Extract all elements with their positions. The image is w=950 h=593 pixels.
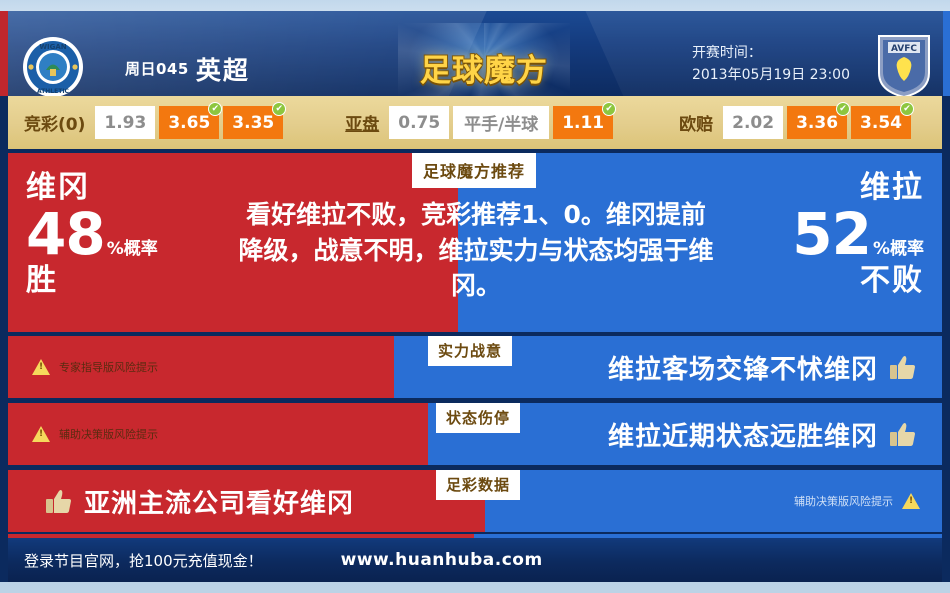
row-headline-text: 维拉客场交锋不怵维冈 [608,349,878,386]
odds-cell-handicap[interactable]: 平手/半球 [453,106,549,139]
warning-triangle-icon [32,426,50,442]
home-team-name: 维冈 [26,173,158,203]
risk-warning: 专家指导版风险提示 [32,336,158,398]
footer-bar: 登录节目官网，抢100元充值现金！ www.huanhuba.com [8,538,942,582]
away-probability-row: 52%概率 [792,205,924,263]
thumbs-up-icon [888,354,918,380]
brand-logo-text: 足球魔方 [420,45,548,90]
kickoff-label: 开赛时间： [692,43,850,65]
odds-value: 3.65 [168,113,210,133]
row-headline: 维拉客场交锋不怵维冈 [608,336,918,398]
row-tab-label: 足彩数据 [436,470,520,500]
odds-value: 3.54 [860,113,902,133]
thumbs-up-icon [44,488,74,514]
away-probability-value: 52 [792,200,871,268]
home-outcome-label: 胜 [26,266,158,296]
brand-logo: 足球魔方 [398,37,570,96]
row-headline: 亚洲主流公司看好维冈 [44,470,354,532]
odds-group-european: 欧赔 2.02 3.36✔ 3.54✔ [679,106,915,139]
match-title: 周日045英超 [125,51,250,87]
check-icon: ✔ [208,102,222,116]
reason-row: 状态伤停 辅助决策版风险提示 维拉近期状态远胜维冈 [8,403,942,465]
thumbs-up-icon [888,421,918,447]
prediction-panel: 足球魔方推荐 维冈 48%概率 胜 维拉 52%概率 不败 看好维拉不败，竞彩推… [8,153,942,332]
away-team-name: 维拉 [792,173,924,203]
odds-cell[interactable]: 1.93 [95,106,155,139]
odds-cell[interactable]: 3.54✔ [851,106,911,139]
kickoff-time: 开赛时间： 2013年05月19日 23:00 [692,43,850,86]
away-outcome-label: 不败 [792,266,924,296]
odds-cell[interactable]: 0.75 [389,106,449,139]
home-probability-row: 48%概率 [26,205,158,263]
risk-warning-text: 辅助决策版风险提示 [59,426,158,442]
odds-group-label: 欧赔 [679,110,713,135]
warning-triangle-icon [902,493,920,509]
odds-cell[interactable]: 2.02 [723,106,783,139]
home-probability-value: 48 [26,200,105,268]
odds-group-jingcai: 竞彩(0) 1.93 3.65✔ 3.35✔ [24,106,287,139]
footer-promo-text: 登录节目官网，抢100元充值现金！ [24,550,263,571]
home-probability-block: 维冈 48%概率 胜 [26,173,158,296]
odds-value: 0.75 [398,113,440,133]
row-headline-text: 亚洲主流公司看好维冈 [84,483,354,520]
risk-warning-text: 辅助决策版风险提示 [794,493,893,509]
svg-text:ATHLETIC: ATHLETIC [37,88,70,95]
footer-red-accent [8,534,474,538]
check-icon: ✔ [602,102,616,116]
odds-group-label: 竞彩(0) [24,110,85,135]
match-header: WIGAN ATHLETIC AVFC 周日045英超 足球魔方 开赛时间： 2… [0,11,950,96]
risk-warning: 辅助决策版风险提示 [32,403,158,465]
away-team-crest-icon: AVFC [876,33,932,96]
row-headline-text: 维拉近期状态远胜维冈 [608,416,878,453]
away-probability-block: 维拉 52%概率 不败 [792,173,924,296]
prediction-tab-label: 足球魔方推荐 [412,153,536,188]
footer-website-link[interactable]: www.huanhuba.com [341,550,543,570]
footer-blue-accent [474,534,942,538]
odds-cell[interactable]: 3.65✔ [159,106,219,139]
risk-warning-text: 专家指导版风险提示 [59,359,158,375]
reason-row: 足彩数据 亚洲主流公司看好维冈 辅助决策版风险提示 [8,470,942,532]
match-league: 英超 [196,56,250,85]
odds-cell[interactable]: 3.35✔ [223,106,283,139]
row-tab-label: 状态伤停 [436,403,520,433]
header-left-accent [0,11,8,96]
kickoff-value: 2013年05月19日 23:00 [692,65,850,87]
home-probability-unit: %概率 [107,239,158,259]
svg-text:AVFC: AVFC [891,44,917,54]
away-probability-unit: %概率 [873,239,924,259]
odds-group-label: 亚盘 [345,110,379,135]
odds-value: 3.35 [232,113,274,133]
row-headline: 维拉近期状态远胜维冈 [608,403,918,465]
match-round: 周日045 [125,60,189,78]
warning-triangle-icon [32,359,50,375]
odds-value: 2.02 [732,113,774,133]
row-tab-label: 实力战意 [428,336,512,366]
check-icon: ✔ [836,102,850,116]
odds-value: 平手/半球 [464,110,538,135]
svg-text:WIGAN: WIGAN [39,43,66,51]
odds-value: 3.36 [796,113,838,133]
odds-cell[interactable]: 1.11✔ [553,106,613,139]
risk-warning: 辅助决策版风险提示 [794,470,920,532]
prediction-advice-text: 看好维拉不败，竞彩推荐1、0。维冈提前降级，战意不明，维拉实力与状态均强于维冈。 [236,197,716,304]
odds-bar: 竞彩(0) 1.93 3.65✔ 3.35✔ 亚盘 0.75 平手/半球 1.1… [8,96,942,149]
odds-value: 1.93 [104,113,146,133]
odds-cell[interactable]: 3.36✔ [787,106,847,139]
broadcast-graphic-frame: WIGAN ATHLETIC AVFC 周日045英超 足球魔方 开赛时间： 2… [0,11,950,582]
reason-row: 实力战意 专家指导版风险提示 维拉客场交锋不怵维冈 [8,336,942,398]
header-right-accent [943,11,950,96]
check-icon: ✔ [272,102,286,116]
odds-value: 1.11 [562,113,604,133]
check-icon: ✔ [900,102,914,116]
home-team-crest-icon: WIGAN ATHLETIC [22,36,84,96]
odds-group-asian: 亚盘 0.75 平手/半球 1.11✔ [345,106,617,139]
